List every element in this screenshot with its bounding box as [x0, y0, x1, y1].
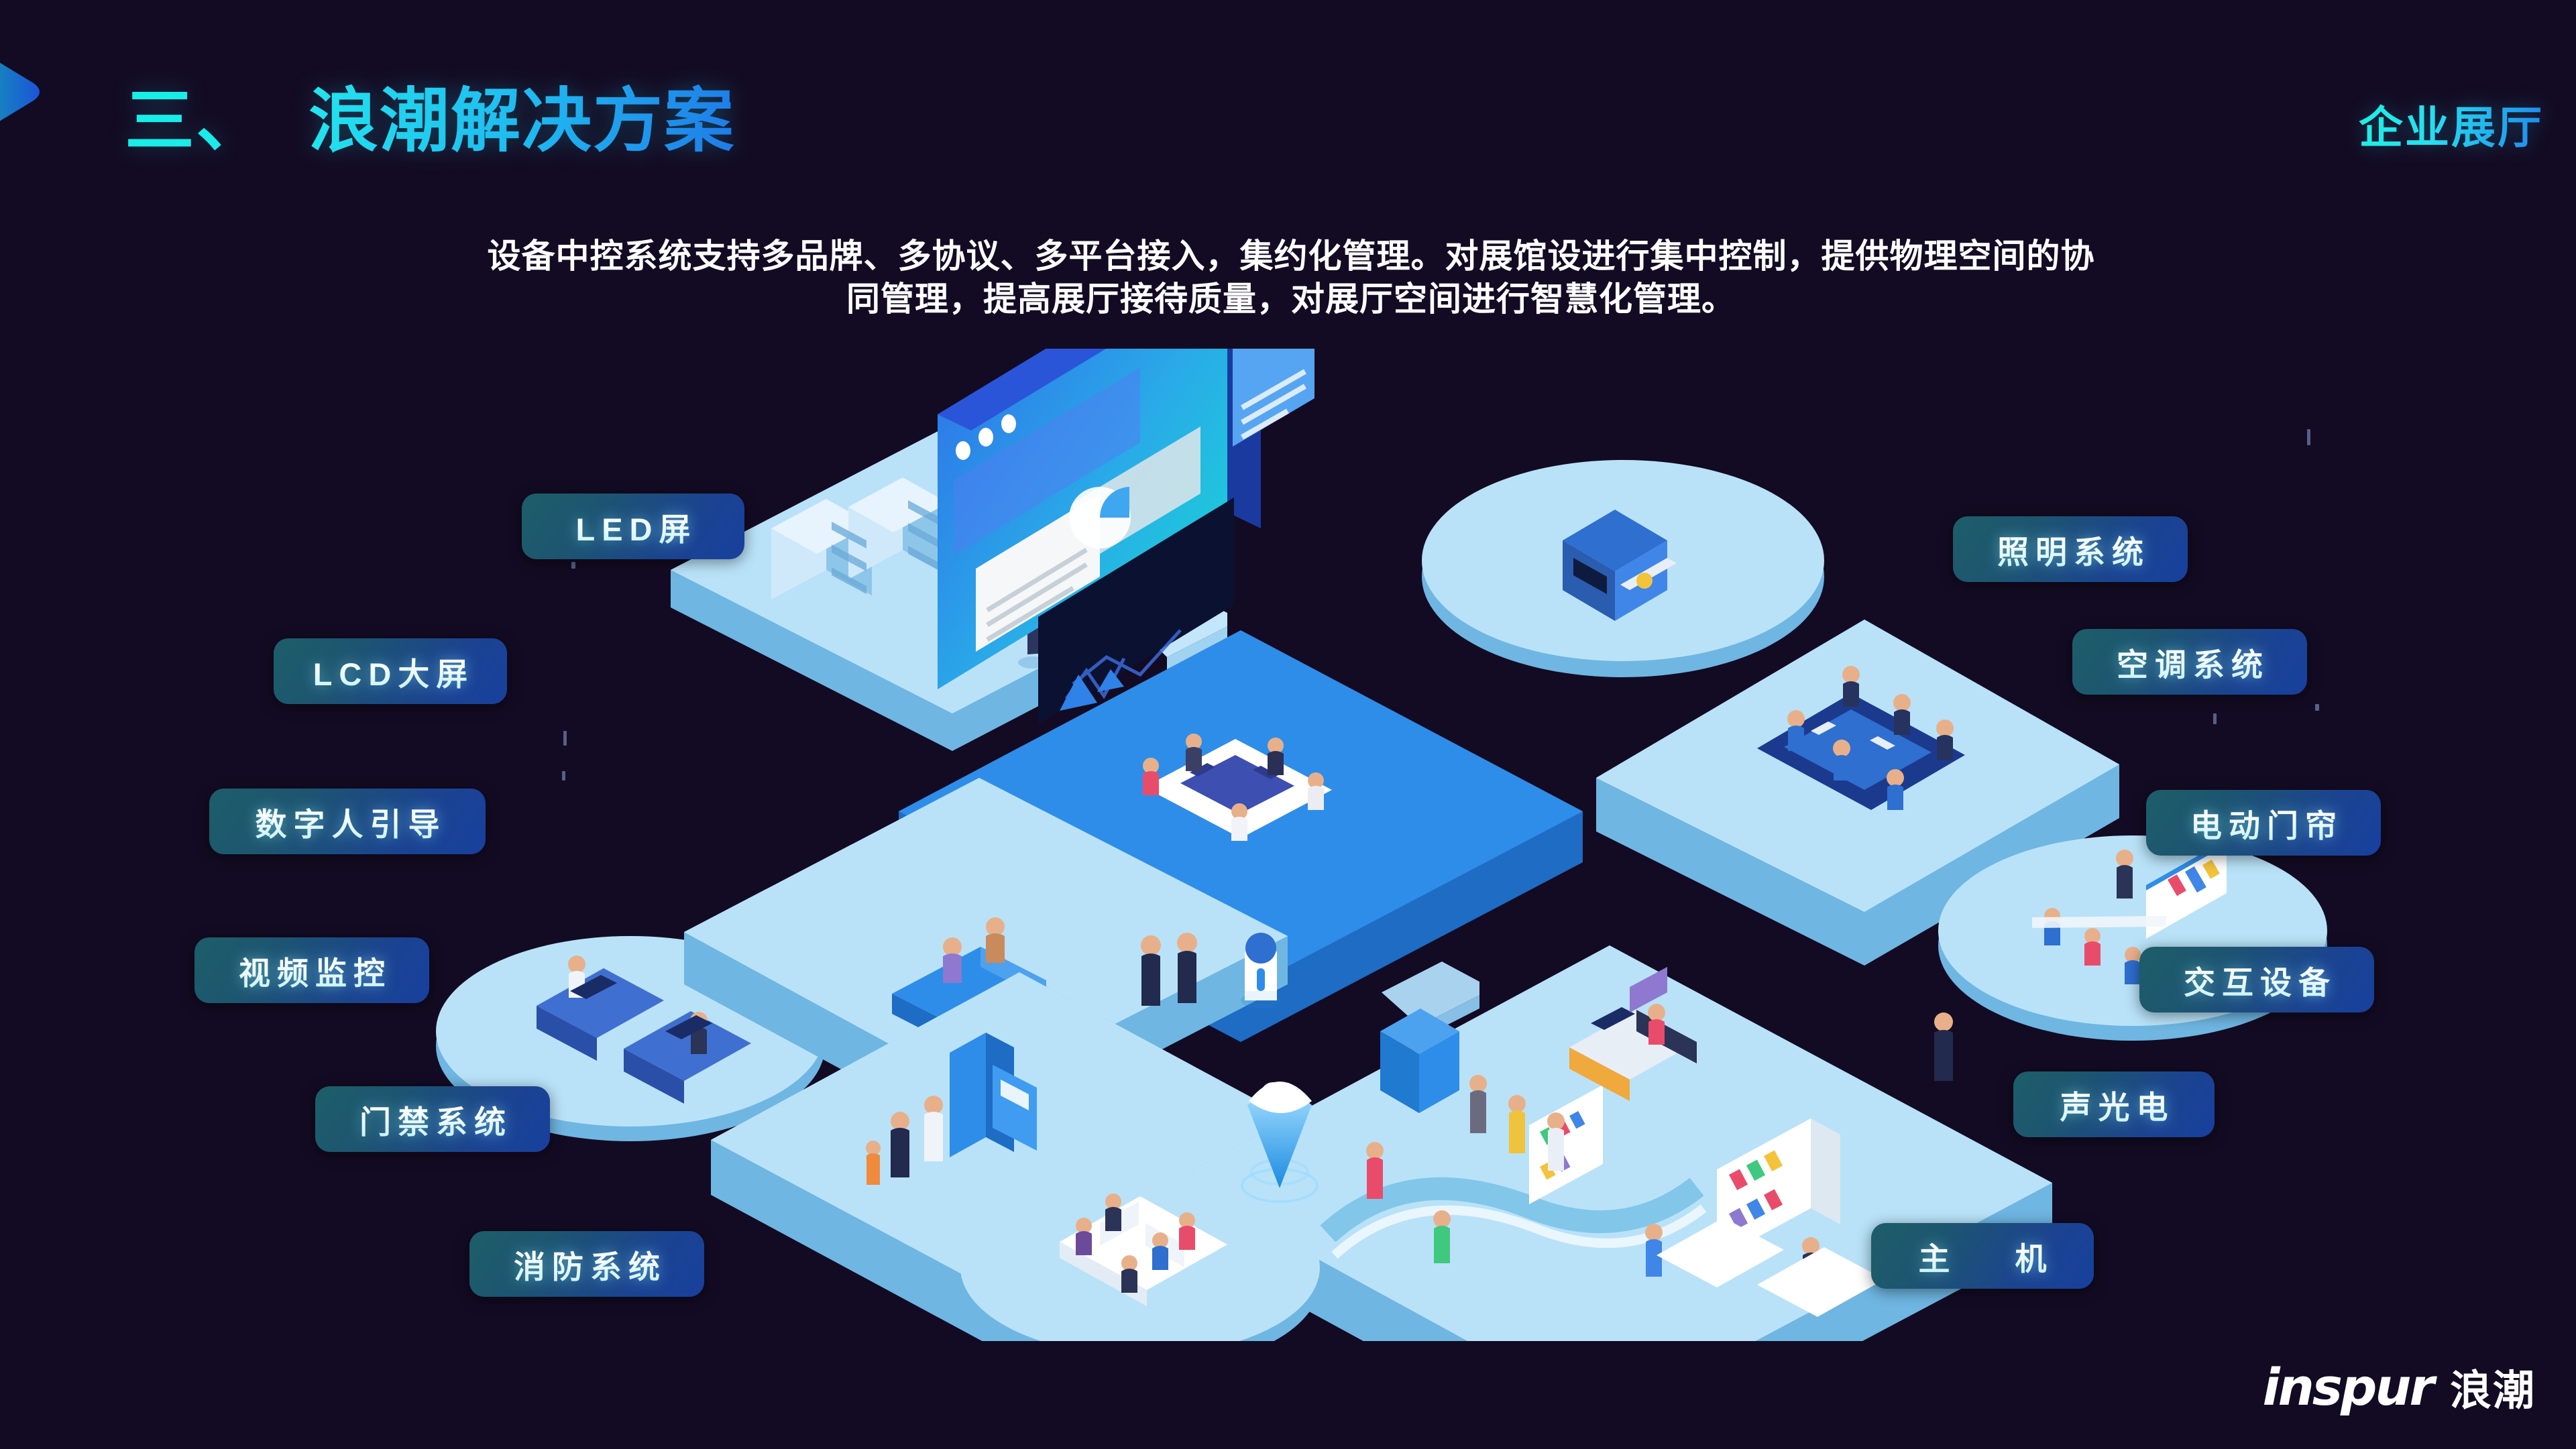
label-led-screen[interactable]: LED屏 [522, 494, 744, 559]
label-hvac-system[interactable]: 空调系统 [2072, 629, 2307, 695]
brand-logo: inspur 浪潮 [2263, 1356, 2536, 1417]
label-hvac-system-text: 空调系统 [2110, 639, 2270, 685]
platform-kiosk-circle [1422, 460, 1824, 677]
intro-paragraph: 设备中控系统支持多品牌、多协议、多平台接入，集约化管理。对展馆设进行集中控制，提… [127, 235, 2455, 321]
label-lighting-system-text: 照明系统 [1991, 526, 2150, 573]
label-host-controller-text: 主 机 [1890, 1233, 2074, 1279]
label-video-surveillance[interactable]: 视频监控 [194, 937, 429, 1003]
label-host-controller[interactable]: 主 机 [1871, 1223, 2094, 1289]
intro-line-1: 设备中控系统支持多品牌、多协议、多平台接入，集约化管理。对展馆设进行集中控制，提… [127, 235, 2455, 278]
brand-name-cn: 浪潮 [2450, 1356, 2536, 1417]
label-lcd-wall-text: LCD大屏 [306, 648, 475, 695]
service-robot-icon [1241, 933, 1281, 1008]
corner-title: 企业展厅 [2359, 92, 2544, 156]
corner-chevron-icon [0, 28, 79, 156]
label-access-control-text: 门禁系统 [353, 1096, 512, 1143]
dust-speck [563, 731, 567, 746]
label-motor-curtain[interactable]: 电动门帘 [2146, 790, 2381, 856]
label-av-light-electric-text: 声光电 [2054, 1082, 2175, 1128]
label-led-screen-text: LED屏 [569, 504, 697, 550]
intro-line-2: 同管理，提高展厅接待质量，对展厅空间进行智慧化管理。 [127, 278, 2455, 321]
label-access-control[interactable]: 门禁系统 [315, 1086, 550, 1152]
label-av-light-electric[interactable]: 声光电 [2013, 1071, 2215, 1137]
label-digital-human[interactable]: 数字人引导 [209, 789, 486, 854]
dust-speck [2315, 704, 2319, 711]
label-fire-system[interactable]: 消防系统 [469, 1231, 704, 1297]
page-title: 三、浪潮解决方案 [125, 64, 735, 165]
label-interactive-device-text: 交互设备 [2177, 957, 2337, 1003]
label-video-surveillance-text: 视频监控 [232, 947, 392, 994]
section-number: 三、 [125, 82, 267, 160]
dust-speck [2307, 429, 2310, 445]
brand-name-en: inspur [2263, 1357, 2432, 1417]
dust-speck [562, 771, 565, 780]
label-digital-human-text: 数字人引导 [249, 799, 447, 845]
label-fire-system-text: 消防系统 [507, 1241, 667, 1287]
label-interactive-device[interactable]: 交互设备 [2139, 947, 2374, 1012]
title-text: 浪潮解决方案 [309, 82, 735, 160]
dust-speck [571, 562, 575, 569]
label-motor-curtain-text: 电动门帘 [2184, 800, 2343, 846]
dust-speck [2213, 713, 2217, 724]
label-lighting-system[interactable]: 照明系统 [1953, 516, 2188, 582]
label-lcd-wall[interactable]: LCD大屏 [274, 638, 507, 704]
